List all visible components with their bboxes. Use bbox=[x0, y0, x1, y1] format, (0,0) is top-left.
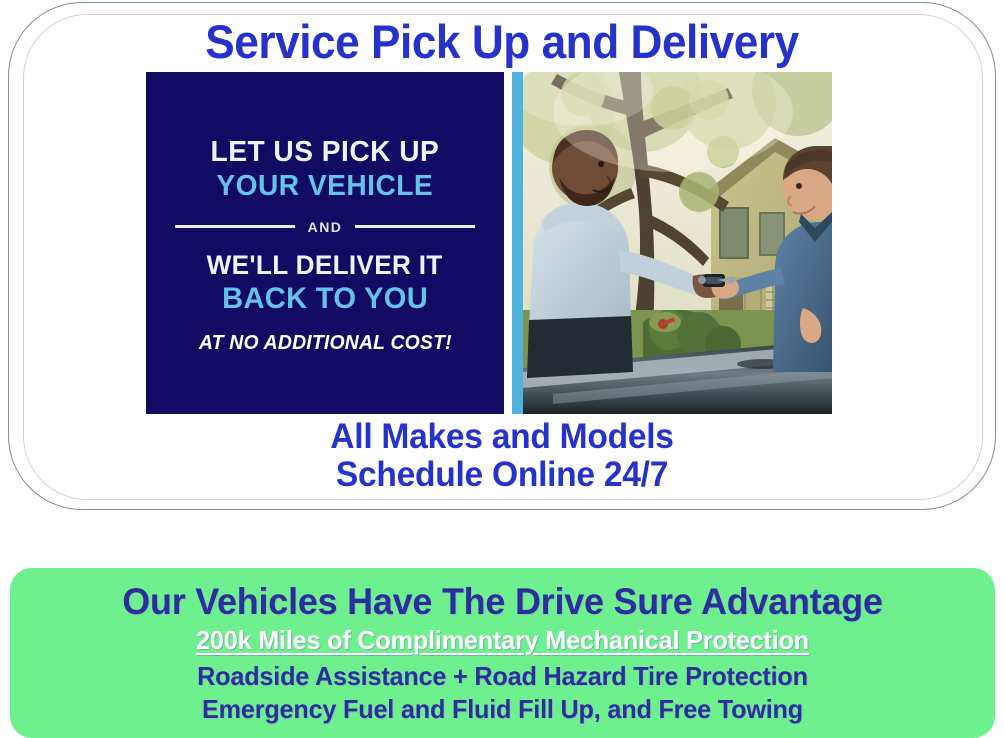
promo-line-your-vehicle: YOUR VEHICLE bbox=[217, 169, 434, 203]
promo-line-pickup: LET US PICK UP bbox=[211, 135, 440, 169]
page-title: Service Pick Up and Delivery bbox=[30, 16, 974, 68]
photo-illustration bbox=[523, 72, 832, 414]
and-label: AND bbox=[295, 219, 356, 235]
promo-message-panel: LET US PICK UP YOUR VEHICLE AND WE'LL DE… bbox=[146, 72, 504, 414]
promo-line-deliver: WE'LL DELIVER IT bbox=[207, 249, 443, 281]
subhead-line-makes-models: All Makes and Models bbox=[20, 418, 984, 456]
accent-stripe bbox=[512, 72, 523, 414]
drive-sure-advantage-panel: Our Vehicles Have The Drive Sure Advanta… bbox=[10, 568, 995, 738]
advantage-heading: Our Vehicles Have The Drive Sure Advanta… bbox=[25, 580, 980, 624]
promo-line-no-cost: AT NO ADDITIONAL COST! bbox=[199, 330, 452, 356]
advantage-benefit-fuel-towing: Emergency Fuel and Fluid Fill Up, and Fr… bbox=[25, 693, 980, 726]
divider-rule-left bbox=[175, 225, 295, 228]
subhead-line-schedule-online: Schedule Online 24/7 bbox=[20, 456, 984, 494]
key-handoff-photo bbox=[523, 72, 832, 414]
promo-subhead: All Makes and Models Schedule Online 24/… bbox=[20, 418, 984, 494]
and-divider: AND bbox=[175, 219, 475, 235]
promo-creative: LET US PICK UP YOUR VEHICLE AND WE'LL DE… bbox=[146, 72, 832, 414]
advantage-benefit-roadside: Roadside Assistance + Road Hazard Tire P… bbox=[25, 660, 980, 693]
promo-line-back-to-you: BACK TO YOU bbox=[222, 281, 428, 316]
advantage-highlight: 200k Miles of Complimentary Mechanical P… bbox=[25, 624, 980, 656]
divider-rule-right bbox=[355, 225, 475, 228]
